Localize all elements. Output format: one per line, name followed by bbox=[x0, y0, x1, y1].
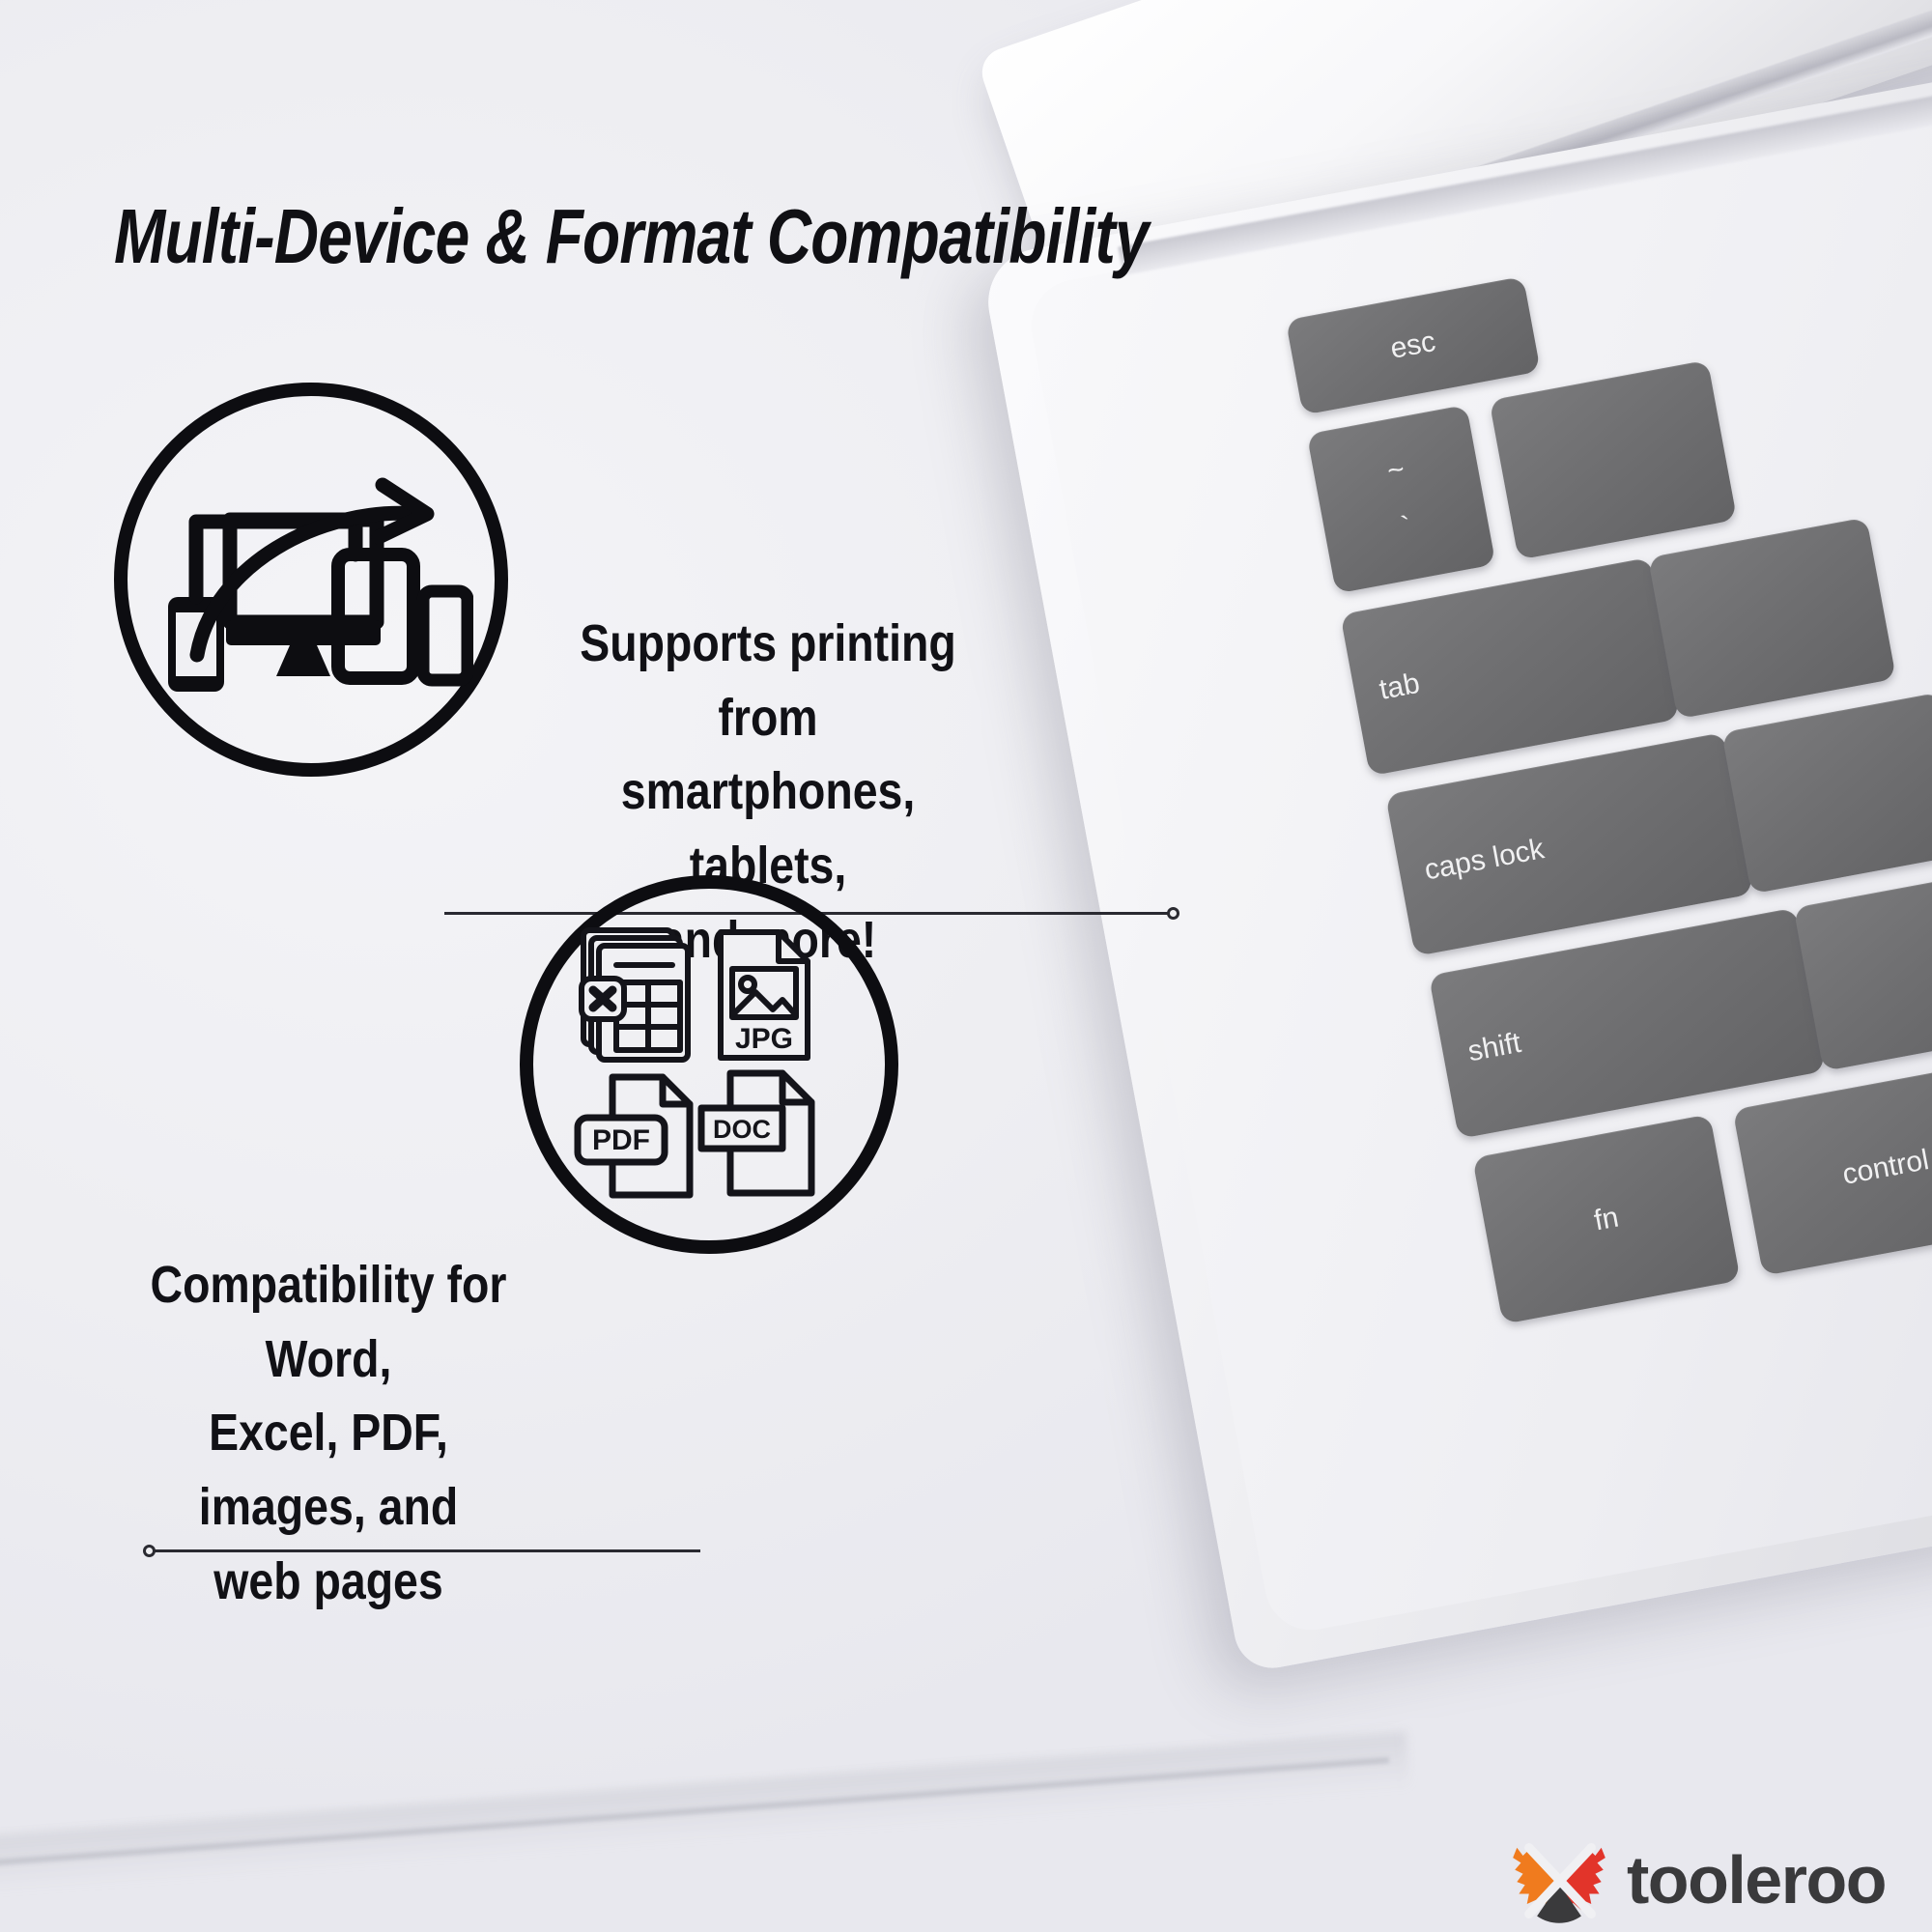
gear-x-logo-icon bbox=[1509, 1830, 1609, 1930]
pdf-file-icon: PDF bbox=[578, 1077, 690, 1195]
key-caps-lock: caps lock bbox=[1385, 732, 1753, 956]
brand-wordmark: tooleroo bbox=[1627, 1841, 1886, 1918]
key-right-edge-3 bbox=[1721, 692, 1932, 894]
key-right-edge-2 bbox=[1648, 517, 1896, 719]
doc-file-icon: DOC bbox=[701, 1073, 811, 1193]
feature-text-formats-line-3: web pages bbox=[121, 1545, 536, 1619]
leader-line-formats bbox=[150, 1549, 700, 1552]
svg-text:PDF: PDF bbox=[592, 1124, 650, 1156]
feature-text-devices-line-2: smartphones, tablets, bbox=[573, 754, 963, 902]
excel-spreadsheet-icon bbox=[582, 930, 688, 1060]
infographic-canvas: esc ~ ` tab caps lock shift fn control M… bbox=[0, 0, 1932, 1932]
key-fn: fn bbox=[1472, 1114, 1741, 1324]
key-tilde-lower-label: ` bbox=[1399, 511, 1414, 545]
key-control: control bbox=[1732, 1059, 1932, 1276]
key-esc: esc bbox=[1286, 276, 1541, 415]
brand-logo[interactable]: tooleroo bbox=[1509, 1830, 1886, 1930]
key-tilde-top: ~ ` bbox=[1307, 405, 1496, 594]
feature-text-formats-line-2: Excel, PDF, images, and bbox=[121, 1396, 536, 1544]
feature-text-formats: Compatibility for Word, Excel, PDF, imag… bbox=[121, 1248, 536, 1618]
feature-text-devices-line-1: Supports printing from bbox=[573, 607, 963, 754]
file-formats-icon: JPG PDF DOC bbox=[570, 923, 850, 1203]
key-tilde-upper-label: ~ bbox=[1384, 453, 1406, 489]
page-title: Multi-Device & Format Compatibility bbox=[114, 197, 887, 276]
leader-endpoint-formats bbox=[143, 1545, 156, 1557]
multi-device-printing-icon bbox=[155, 473, 473, 705]
leader-endpoint-devices bbox=[1167, 907, 1179, 920]
feature-text-formats-line-1: Compatibility for Word, bbox=[121, 1248, 536, 1396]
svg-text:DOC: DOC bbox=[713, 1115, 771, 1144]
key-right-edge-1 bbox=[1489, 360, 1737, 560]
svg-text:JPG: JPG bbox=[735, 1023, 793, 1055]
jpg-image-file-icon: JPG bbox=[721, 932, 808, 1058]
key-tab: tab bbox=[1340, 557, 1680, 777]
